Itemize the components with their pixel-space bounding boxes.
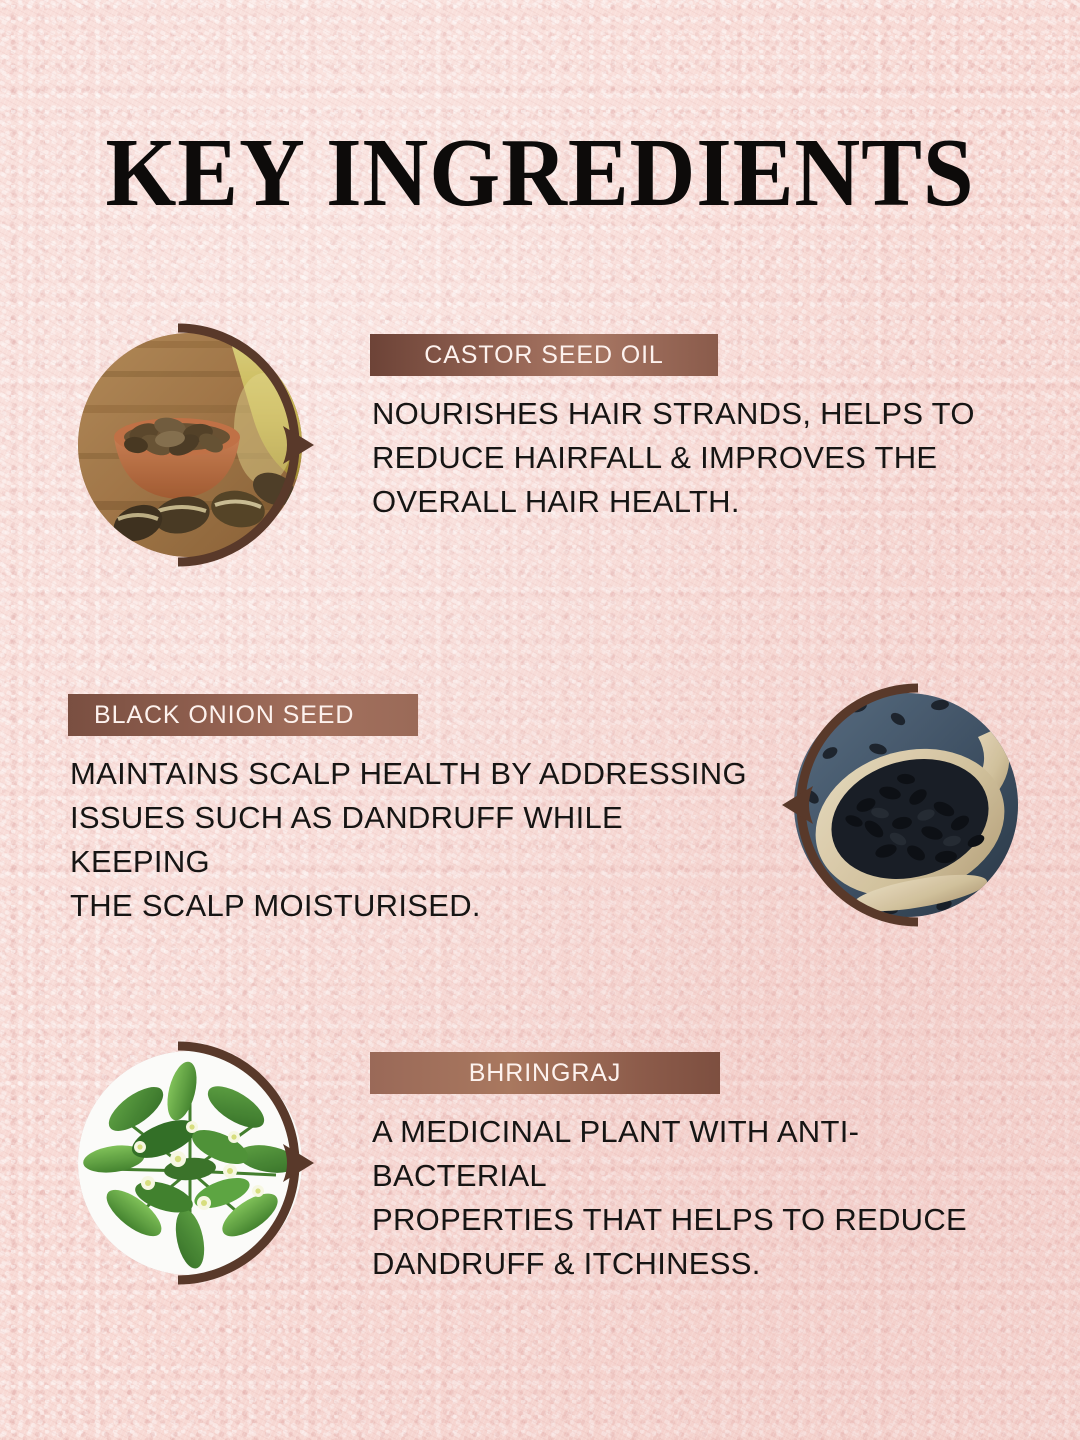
ingredient-text-bhringraj: BHRINGRAJ A MEDICINAL PLANT WITH ANTI-BA… bbox=[370, 1052, 1030, 1286]
ingredient-row-black-onion-seed: BLACK ONION SEED MAINTAINS SCALP HEALTH … bbox=[0, 660, 1080, 960]
ingredient-media-castor-seed-oil bbox=[74, 314, 336, 576]
infographic-page: KEY INGREDIENTS bbox=[0, 0, 1080, 1440]
ingredient-media-bhringraj bbox=[74, 1032, 336, 1294]
ingredient-text-black-onion-seed: BLACK ONION SEED MAINTAINS SCALP HEALTH … bbox=[68, 694, 748, 928]
arc-ring-right bbox=[74, 1032, 336, 1294]
ingredient-row-castor-seed-oil: CASTOR SEED OIL NOURISHES HAIR STRANDS, … bbox=[0, 300, 1080, 600]
page-title: KEY INGREDIENTS bbox=[38, 124, 1042, 222]
ingredient-text-castor-seed-oil: CASTOR SEED OIL NOURISHES HAIR STRANDS, … bbox=[370, 334, 1030, 524]
arc-with-arrow-left-icon bbox=[760, 674, 1022, 936]
ingredient-description: NOURISHES HAIR STRANDS, HELPS TO REDUCE … bbox=[372, 392, 1030, 524]
arc-with-arrow-right-icon bbox=[74, 314, 336, 576]
arc-ring-left bbox=[760, 674, 1022, 936]
ingredient-row-bhringraj: BHRINGRAJ A MEDICINAL PLANT WITH ANTI-BA… bbox=[0, 1018, 1080, 1318]
ingredient-name-badge: BLACK ONION SEED bbox=[68, 694, 418, 736]
ingredient-name-badge: CASTOR SEED OIL bbox=[370, 334, 718, 376]
ingredient-description: MAINTAINS SCALP HEALTH BY ADDRESSING ISS… bbox=[70, 752, 748, 928]
ingredient-name-badge: BHRINGRAJ bbox=[370, 1052, 720, 1094]
ingredient-description: A MEDICINAL PLANT WITH ANTI-BACTERIAL PR… bbox=[372, 1110, 1030, 1286]
ingredient-media-black-onion-seed bbox=[760, 674, 1022, 936]
arc-with-arrow-right-icon bbox=[74, 1032, 336, 1294]
arc-ring-right bbox=[74, 314, 336, 576]
